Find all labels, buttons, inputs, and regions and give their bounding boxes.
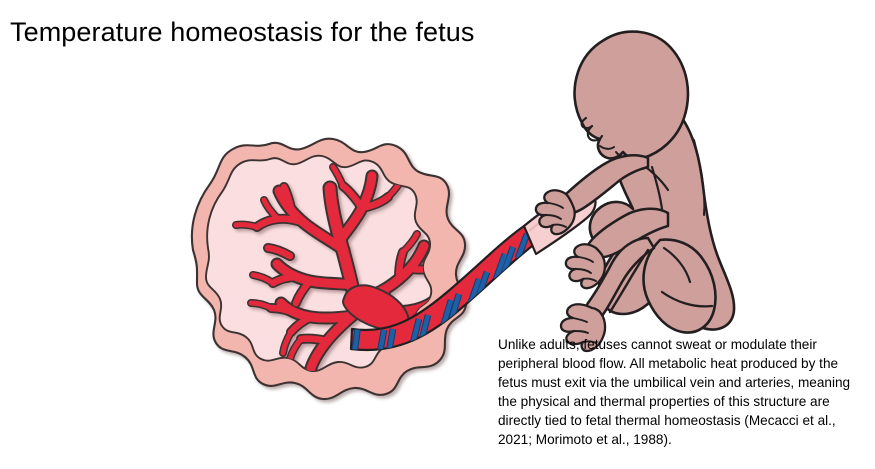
fetus-lower-hand <box>566 244 605 288</box>
fetus <box>536 32 734 351</box>
slide-canvas: Temperature homeostasis for the fetus <box>0 0 875 469</box>
placenta <box>192 139 466 399</box>
caption-text: Unlike adults, fetuses cannot sweat or m… <box>498 335 870 450</box>
